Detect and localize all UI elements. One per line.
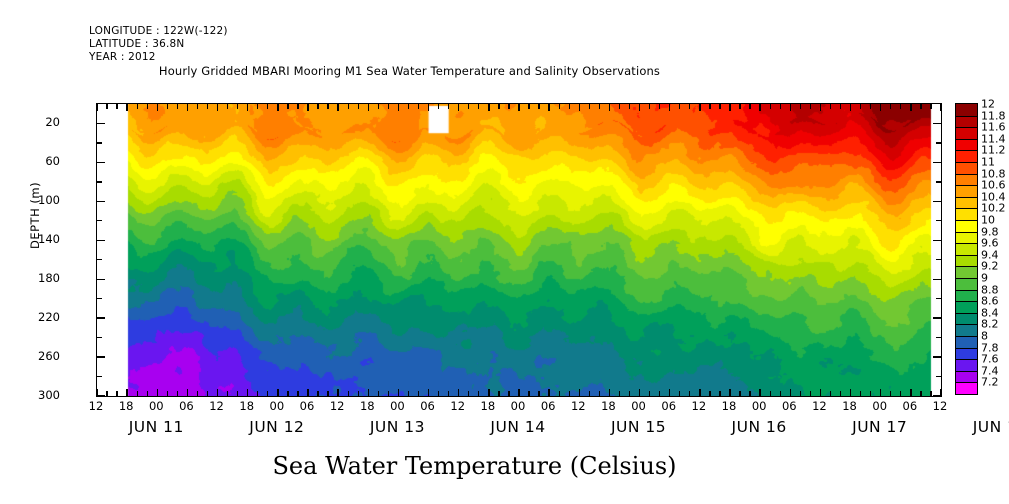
colorbar-band [956, 382, 977, 394]
x-axis-tick [800, 104, 801, 109]
colorbar-band [956, 162, 977, 174]
x-axis-tick [599, 104, 600, 109]
x-axis-tick [358, 104, 359, 109]
x-axis-tick [820, 104, 821, 111]
y-axis-tick [936, 376, 941, 377]
y-axis-tick [97, 376, 102, 377]
colorbar-band [956, 336, 977, 348]
x-axis-tick [157, 104, 158, 111]
x-axis-tick [609, 389, 610, 396]
x-axis-tick [528, 391, 529, 396]
x-axis-tick [317, 391, 318, 396]
y-axis-tick [97, 259, 102, 260]
x-axis-tick [247, 389, 248, 396]
x-axis-tick [749, 104, 750, 109]
y-axis-tick [933, 356, 941, 357]
x-axis-tick [398, 104, 399, 111]
x-axis-tick [106, 104, 107, 109]
x-axis-tick [126, 389, 127, 396]
x-axis-tick [217, 104, 218, 111]
x-axis-tick [930, 391, 931, 396]
x-axis-hour-label: 06 [541, 399, 556, 413]
x-axis-tick [157, 389, 158, 396]
x-axis-tick [800, 391, 801, 396]
x-axis-tick [699, 389, 700, 396]
x-axis-tick [689, 104, 690, 109]
y-axis-tick [97, 181, 102, 182]
x-axis-tick [187, 389, 188, 396]
x-axis-tick [247, 104, 248, 111]
x-axis-tick [408, 391, 409, 396]
y-axis-tick [936, 298, 941, 299]
x-axis-tick [438, 104, 439, 109]
x-axis-tick [629, 104, 630, 109]
x-axis-tick [659, 104, 660, 109]
x-axis-tick [297, 104, 298, 109]
x-axis-hour-label: 18 [601, 399, 616, 413]
x-axis-tick [569, 104, 570, 109]
x-axis-tick [880, 104, 881, 111]
x-axis-tick [609, 104, 610, 111]
y-axis-tick [936, 142, 941, 143]
x-axis-tick [358, 391, 359, 396]
x-axis-tick [548, 104, 549, 111]
y-axis-depth-label: 100 [38, 193, 60, 207]
x-axis-tick [689, 391, 690, 396]
longitude-label: LONGITUDE : 122W(-122) [89, 25, 228, 38]
colorbar-band [956, 174, 977, 186]
x-axis-tick [458, 389, 459, 396]
x-axis-tick [639, 104, 640, 111]
x-axis-tick [538, 391, 539, 396]
x-axis-tick [167, 391, 168, 396]
x-axis-hour-label: 00 [872, 399, 887, 413]
x-axis-hour-label: 12 [450, 399, 465, 413]
y-axis-tick [97, 240, 105, 241]
x-axis-tick [398, 389, 399, 396]
y-axis-tick [933, 317, 941, 318]
x-axis-tick [428, 389, 429, 396]
x-axis-tick [197, 391, 198, 396]
x-axis-tick [307, 389, 308, 396]
x-axis-tick [378, 391, 379, 396]
x-axis-tick [267, 391, 268, 396]
colorbar-band [956, 185, 977, 197]
x-axis-tick [518, 104, 519, 111]
x-axis-day-label: JUN 16 [732, 418, 787, 436]
colorbar-band [956, 139, 977, 151]
x-axis-tick [669, 389, 670, 396]
y-axis-tick [936, 220, 941, 221]
x-axis-hour-label: 06 [300, 399, 315, 413]
x-axis-tick [327, 391, 328, 396]
x-axis-tick [780, 104, 781, 109]
x-axis-tick [639, 389, 640, 396]
x-axis-tick [388, 391, 389, 396]
x-axis-tick [910, 389, 911, 396]
colorbar-band [956, 313, 977, 325]
x-axis-tick [659, 391, 660, 396]
colorbar-band [956, 220, 977, 232]
x-axis-hour-label: 18 [360, 399, 375, 413]
x-axis-tick [930, 104, 931, 109]
x-axis-tick [498, 104, 499, 109]
colorbar-band [956, 232, 977, 244]
x-axis-hour-label: 12 [209, 399, 224, 413]
x-axis-tick [267, 104, 268, 109]
x-axis-tick [177, 104, 178, 109]
x-axis-tick [920, 391, 921, 396]
x-axis-tick [890, 391, 891, 396]
x-axis-tick [729, 104, 730, 111]
x-axis-day-label: JUN 18 [973, 418, 1009, 436]
y-axis-depth-label: 60 [45, 154, 60, 168]
y-axis-depth-label: 180 [38, 271, 60, 285]
x-axis-tick [870, 391, 871, 396]
x-axis-hour-label: 12 [933, 399, 948, 413]
x-axis-tick [106, 391, 107, 396]
x-axis-tick [478, 391, 479, 396]
x-axis-hour-label: 00 [390, 399, 405, 413]
x-axis-tick [518, 389, 519, 396]
x-axis-tick [579, 389, 580, 396]
x-axis-tick [840, 391, 841, 396]
y-axis-tick [97, 317, 105, 318]
y-axis-depth-label: 300 [38, 388, 60, 402]
contour-plot-area [96, 103, 942, 397]
x-axis-tick [890, 104, 891, 109]
y-axis-depth-label: 220 [38, 310, 60, 324]
x-axis-tick [739, 104, 740, 109]
x-axis-hour-label: 18 [842, 399, 857, 413]
y-axis-tick [97, 162, 105, 163]
x-axis-hour-label: 06 [661, 399, 676, 413]
x-axis-hour-label: 00 [149, 399, 164, 413]
colorbar-tick-label: 7.2 [978, 376, 999, 389]
colorbar-band [956, 278, 977, 290]
chart-caption: Sea Water Temperature (Celsius) [0, 452, 1009, 480]
y-axis-tick [97, 356, 105, 357]
colorbar-band [956, 348, 977, 360]
colorbar-band [956, 359, 977, 371]
x-axis-tick [790, 389, 791, 396]
x-axis-tick [297, 391, 298, 396]
x-axis-day-label: JUN 11 [129, 418, 184, 436]
x-axis-tick [810, 391, 811, 396]
y-axis-tick [933, 162, 941, 163]
x-axis-day-label: JUN 14 [490, 418, 545, 436]
x-axis-tick [559, 104, 560, 109]
x-axis-tick [508, 391, 509, 396]
x-axis-tick [438, 391, 439, 396]
x-axis-tick [739, 391, 740, 396]
x-axis-tick [408, 104, 409, 109]
x-axis-hour-label: 12 [812, 399, 827, 413]
colorbar-band [956, 255, 977, 267]
colorbar-band [956, 301, 977, 313]
x-axis-tick [428, 104, 429, 111]
y-axis-tick [97, 279, 105, 280]
y-axis-tick [936, 181, 941, 182]
x-axis-hour-label: 18 [722, 399, 737, 413]
y-axis-depth-label: 140 [38, 232, 60, 246]
x-axis-tick [327, 104, 328, 109]
x-axis-tick [317, 104, 318, 109]
x-axis-tick [920, 104, 921, 109]
x-axis-tick [116, 391, 117, 396]
x-axis-tick [860, 391, 861, 396]
x-axis-tick [488, 389, 489, 396]
x-axis-tick [388, 104, 389, 109]
year-label: YEAR : 2012 [89, 51, 228, 64]
y-axis-tick [933, 279, 941, 280]
x-axis-tick [770, 391, 771, 396]
x-axis-tick [237, 104, 238, 109]
y-axis-tick [97, 395, 105, 396]
x-axis-tick [830, 104, 831, 109]
x-axis-tick [599, 391, 600, 396]
x-axis-hour-label: 12 [692, 399, 707, 413]
x-axis-tick [126, 104, 127, 111]
x-axis-tick [900, 391, 901, 396]
x-axis-tick [780, 391, 781, 396]
y-axis-tick [97, 142, 102, 143]
x-axis-tick [559, 391, 560, 396]
x-axis-hour-label: 18 [239, 399, 254, 413]
temperature-contour-field [97, 104, 941, 396]
colorbar-band [956, 208, 977, 220]
x-axis-hour-label: 12 [330, 399, 345, 413]
x-axis-tick [458, 104, 459, 111]
x-axis-tick [699, 104, 700, 111]
latitude-label: LATITUDE : 36.8N [89, 38, 228, 51]
colorbar-band [956, 324, 977, 336]
y-axis-tick [933, 123, 941, 124]
x-axis-tick [257, 391, 258, 396]
x-axis-tick [729, 389, 730, 396]
x-axis-tick [348, 104, 349, 109]
x-axis-tick [528, 104, 529, 109]
x-axis-tick [759, 104, 760, 111]
y-axis-depth-label: 20 [45, 115, 60, 129]
x-axis-tick [709, 391, 710, 396]
x-axis-hour-label: 12 [89, 399, 104, 413]
x-axis-hour-label: 18 [119, 399, 134, 413]
x-axis-tick [217, 389, 218, 396]
colorbar-band [956, 266, 977, 278]
x-axis-tick [227, 104, 228, 109]
x-axis-hour-label: 12 [571, 399, 586, 413]
x-axis-tick [337, 104, 338, 111]
colorbar-band [956, 127, 977, 139]
x-axis-tick [770, 104, 771, 109]
colorbar-band [956, 116, 977, 128]
x-axis-tick [468, 391, 469, 396]
x-axis-tick [207, 104, 208, 109]
x-axis-tick [619, 104, 620, 109]
x-axis-tick [337, 389, 338, 396]
y-axis-tick [97, 298, 102, 299]
y-axis-tick [936, 259, 941, 260]
x-axis-tick [719, 104, 720, 109]
colorbar-band [956, 104, 977, 116]
x-axis-hour-label: 06 [179, 399, 194, 413]
x-axis-tick [759, 389, 760, 396]
x-axis-tick [147, 104, 148, 109]
x-axis-tick [679, 104, 680, 109]
y-axis-tick [97, 123, 105, 124]
x-axis-tick [287, 391, 288, 396]
y-axis-tick [933, 201, 941, 202]
x-axis-tick [649, 104, 650, 109]
x-axis-tick [368, 104, 369, 111]
colorbar-band [956, 290, 977, 302]
x-axis-day-label: JUN 12 [249, 418, 304, 436]
x-axis-tick [237, 391, 238, 396]
x-axis-tick [649, 391, 650, 396]
x-axis-tick [870, 104, 871, 109]
x-axis-tick [147, 391, 148, 396]
y-axis-tick [933, 240, 941, 241]
x-axis-tick [498, 391, 499, 396]
x-axis-tick [860, 104, 861, 109]
x-axis-tick [167, 104, 168, 109]
y-axis-depth-label: 260 [38, 349, 60, 363]
x-axis-tick [448, 391, 449, 396]
x-axis-tick [277, 389, 278, 396]
x-axis-tick [850, 104, 851, 111]
x-axis-tick [820, 389, 821, 396]
x-axis-hour-label: 00 [511, 399, 526, 413]
station-metadata: LONGITUDE : 122W(-122) LATITUDE : 36.8N … [89, 25, 228, 65]
x-axis-tick [277, 104, 278, 111]
x-axis-tick [508, 104, 509, 109]
x-axis-hour-label: 00 [631, 399, 646, 413]
x-axis-tick [629, 391, 630, 396]
x-axis-tick [940, 104, 941, 111]
x-axis-tick [287, 104, 288, 109]
colorbar-band [956, 371, 977, 383]
x-axis-hour-label: 00 [270, 399, 285, 413]
x-axis-tick [679, 391, 680, 396]
x-axis-tick [348, 391, 349, 396]
x-axis-tick [137, 391, 138, 396]
x-axis-tick [619, 391, 620, 396]
y-axis-tick [936, 337, 941, 338]
x-axis-tick [840, 104, 841, 109]
colorbar-band [956, 243, 977, 255]
x-axis-tick [569, 391, 570, 396]
x-axis-hour-label: 06 [782, 399, 797, 413]
x-axis-hour-label: 00 [752, 399, 767, 413]
x-axis-tick [137, 104, 138, 109]
x-axis-tick [900, 104, 901, 109]
x-axis-tick [548, 389, 549, 396]
x-axis-tick [709, 104, 710, 109]
plot-title: Hourly Gridded MBARI Mooring M1 Sea Wate… [0, 64, 1009, 78]
x-axis-hour-label: 18 [481, 399, 496, 413]
x-axis-day-label: JUN 13 [370, 418, 425, 436]
x-axis-tick [478, 104, 479, 109]
x-axis-tick [810, 104, 811, 109]
x-axis-tick [669, 104, 670, 111]
colorbar-band [956, 197, 977, 209]
x-axis-tick [177, 391, 178, 396]
x-axis-tick [850, 389, 851, 396]
x-axis-tick [589, 391, 590, 396]
x-axis-tick [368, 389, 369, 396]
x-axis-tick [418, 104, 419, 109]
x-axis-tick [488, 104, 489, 111]
x-axis-tick [307, 104, 308, 111]
x-axis-tick [830, 391, 831, 396]
x-axis-tick [579, 104, 580, 111]
y-axis-tick [97, 220, 102, 221]
colorbar-band [956, 150, 977, 162]
x-axis-tick [418, 391, 419, 396]
y-axis-tick [97, 337, 102, 338]
x-axis-tick [116, 104, 117, 109]
x-axis-tick [910, 104, 911, 111]
x-axis-tick [468, 104, 469, 109]
y-axis-tick [97, 201, 105, 202]
x-axis-tick [790, 104, 791, 111]
x-axis-tick [448, 104, 449, 109]
y-axis-tick [933, 395, 941, 396]
x-axis-tick [257, 104, 258, 109]
x-axis-tick [880, 389, 881, 396]
colorbar [955, 103, 978, 395]
x-axis-day-label: JUN 15 [611, 418, 666, 436]
x-axis-hour-label: 06 [420, 399, 435, 413]
x-axis-tick [227, 391, 228, 396]
x-axis-tick [538, 104, 539, 109]
x-axis-tick [719, 391, 720, 396]
x-axis-day-label: JUN 17 [852, 418, 907, 436]
x-axis-hour-label: 06 [903, 399, 918, 413]
x-axis-tick [207, 391, 208, 396]
x-axis-tick [96, 104, 97, 111]
x-axis-tick [589, 104, 590, 109]
x-axis-tick [187, 104, 188, 111]
x-axis-tick [378, 104, 379, 109]
x-axis-tick [749, 391, 750, 396]
x-axis-tick [197, 104, 198, 109]
